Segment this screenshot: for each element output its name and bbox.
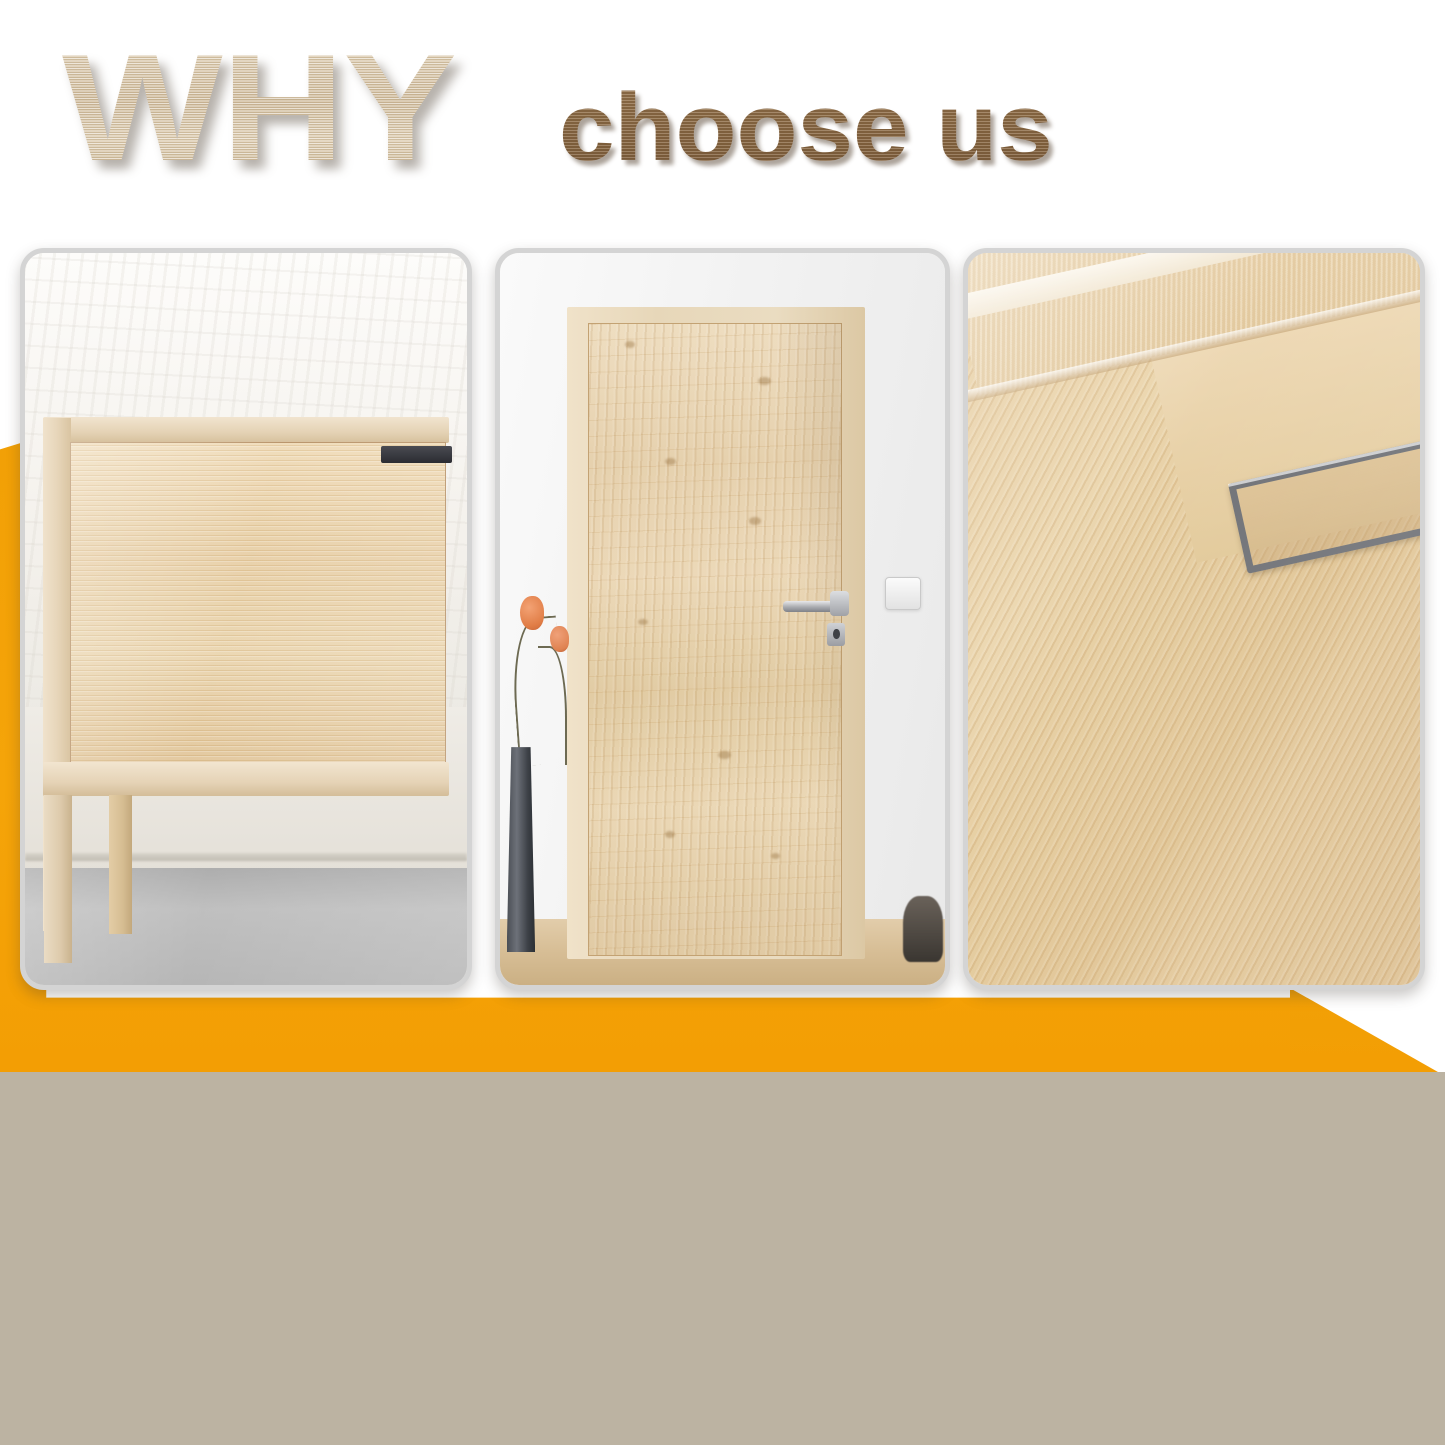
oak-edge-handle-photo xyxy=(968,253,1420,985)
door-handle-rose xyxy=(830,591,850,616)
headline-word-choose-us: choose us xyxy=(559,80,1053,176)
wood-knot xyxy=(665,458,676,465)
gallery-card-oak-edge-handle[interactable] xyxy=(963,248,1425,990)
headline-word-why: WHY xyxy=(62,32,456,184)
cabinet-bottom-rail xyxy=(43,762,450,796)
wood-knot xyxy=(749,517,761,525)
photo-floor-sheen xyxy=(25,868,467,985)
page-title: WHY choose us xyxy=(62,32,1033,184)
dried-flower xyxy=(550,626,569,652)
wood-knot xyxy=(718,751,731,759)
wood-knot xyxy=(638,619,648,625)
floor-object xyxy=(903,896,943,962)
wood-knot xyxy=(665,831,675,838)
features-list: HIGH QUALITY MATERIAL NATURE MAPLE WOOD … xyxy=(0,1072,1445,1445)
cabinet-handle xyxy=(381,446,452,463)
gallery-card-maple-cabinet[interactable] xyxy=(20,248,472,990)
header: WHY choose us xyxy=(0,0,1445,230)
cabinet-leg-left xyxy=(44,795,71,963)
cabinet-leg-right xyxy=(109,795,132,934)
cabinet-top-board xyxy=(43,417,450,443)
floor-vase xyxy=(507,747,535,952)
oak-surface-sheen xyxy=(968,253,1420,985)
maple-cabinet-photo xyxy=(25,253,467,985)
wood-knot xyxy=(625,341,635,348)
wall-light-switch xyxy=(885,577,921,610)
cabinet-drawer-sheen xyxy=(70,442,446,768)
oak-door-photo xyxy=(500,253,945,985)
gallery-card-oak-door[interactable] xyxy=(495,248,950,990)
door-shading xyxy=(588,323,842,955)
photo-wall-ridge xyxy=(25,853,467,861)
dried-flower xyxy=(520,596,543,630)
promo-page: WHY choose us xyxy=(0,0,1445,1445)
